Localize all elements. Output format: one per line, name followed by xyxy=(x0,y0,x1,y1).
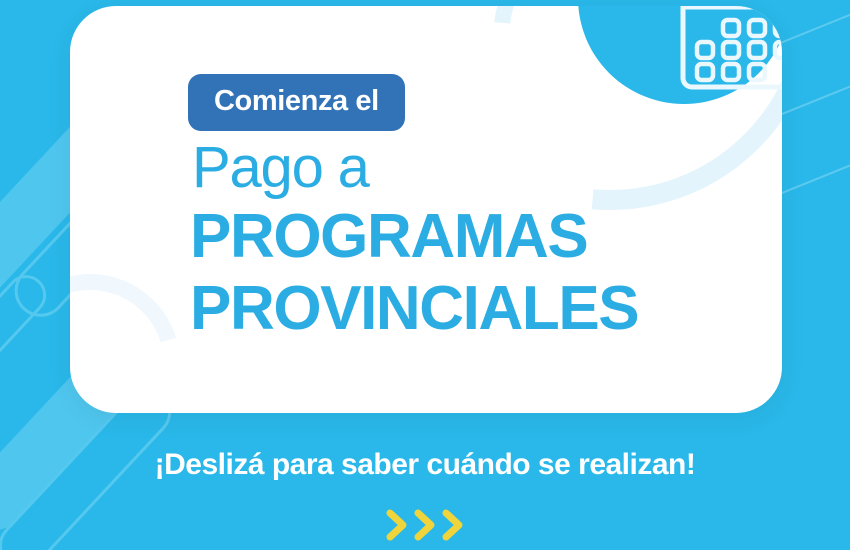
double-chevron-right-icon xyxy=(412,505,439,545)
swipe-chevrons[interactable] xyxy=(0,505,850,545)
headline-regular: Pago a xyxy=(192,138,369,199)
headline-bold-line-1: PROGRAMAS xyxy=(190,206,587,268)
swipe-cta-text: ¡Deslizá para saber cuándo se realizan! xyxy=(0,448,850,482)
double-chevron-right-icon xyxy=(440,505,467,545)
decor-pill-outline xyxy=(0,267,54,433)
eyebrow-badge: Comienza el xyxy=(188,74,405,131)
slide-canvas: Comienza el Pago a PROGRAMAS PROVINCIALE… xyxy=(0,0,850,550)
calendar-icon xyxy=(679,6,782,91)
headline-bold-line-2: PROVINCIALES xyxy=(190,278,638,340)
double-chevron-right-icon xyxy=(384,505,411,545)
content-card: Comienza el Pago a PROGRAMAS PROVINCIALE… xyxy=(70,6,782,413)
